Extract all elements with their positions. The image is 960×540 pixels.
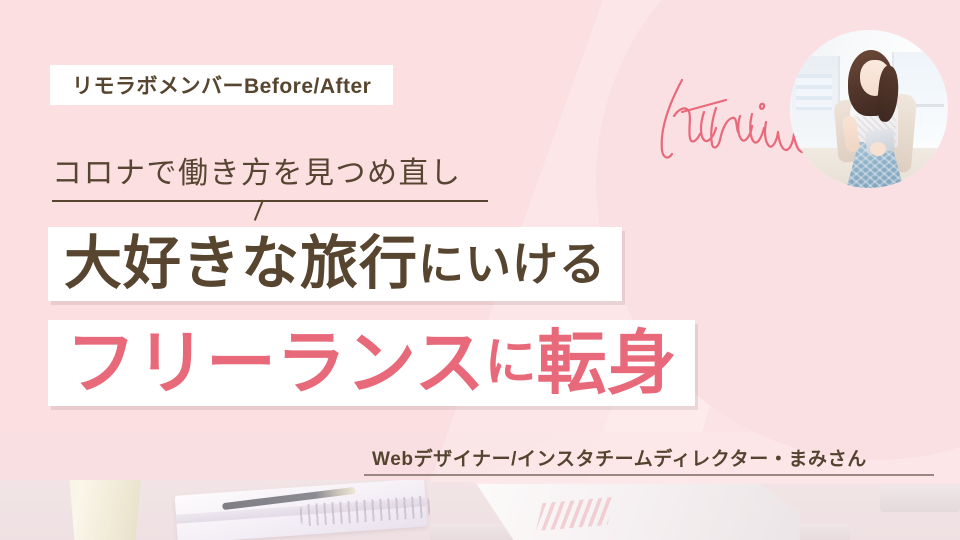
headline-bar-line3: フリーランス に 転身: [48, 320, 695, 406]
category-badge-label: リモラボメンバーBefore/After: [72, 70, 371, 100]
category-badge: リモラボメンバーBefore/After: [50, 65, 393, 105]
interviewee-photo: [790, 30, 948, 188]
headline-subtitle: コロナで働き方を見つめ直し: [52, 148, 462, 192]
interviewee-caption: Webデザイナー/インスタチームディレクター・まみさん: [372, 444, 867, 471]
photo-window-panes: [796, 74, 832, 110]
headline-bar-line2: 大好きな旅行 にいける: [48, 227, 622, 301]
shelf-object: [880, 486, 960, 512]
photo-hand: [870, 142, 886, 156]
subtitle-underline: [52, 200, 488, 202]
headline-line3-main: フリーランス: [66, 328, 485, 398]
headline-line2-main: 大好きな旅行: [64, 235, 418, 293]
caption-underline: [364, 474, 934, 476]
headline-line3-accent: 転身: [537, 328, 677, 398]
headline-line2-tail: にいける: [418, 241, 606, 287]
interview-banner: リモラボメンバーBefore/After コロナで働き方を見つめ直し 大好きな旅…: [0, 0, 960, 540]
headline-line3-particle: に: [485, 337, 537, 389]
